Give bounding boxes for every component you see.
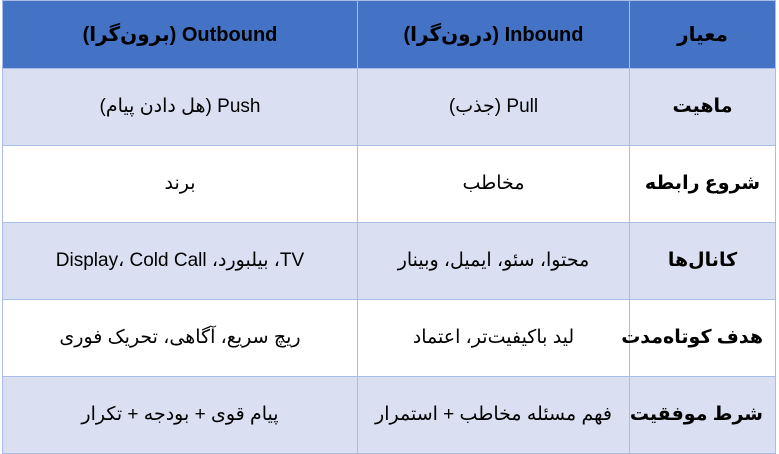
cell-outbound: پیام قوی + بودجه + تکرار	[3, 377, 358, 454]
table-row: شروع رابطه مخاطب برند	[3, 146, 776, 223]
cell-criteria: ماهیت	[630, 69, 776, 146]
table-row: هدف کوتاه‌مدت لید باکیفیت‌تر، اعتماد ریچ…	[3, 300, 776, 377]
cell-inbound: مخاطب	[358, 146, 630, 223]
column-header-criteria: معیار	[630, 1, 776, 69]
table-row: شرط موفقیت فهم مسئله مخاطب + استمرار پیا…	[3, 377, 776, 454]
cell-criteria: شرط موفقیت	[630, 377, 776, 454]
table-body: ماهیت Pull (جذب) Push (هل دادن پیام) شرو…	[3, 69, 776, 454]
cell-inbound: Pull (جذب)	[358, 69, 630, 146]
column-header-inbound: Inbound (درون‌گرا)	[358, 1, 630, 69]
table-header-row: معیار Inbound (درون‌گرا) Outbound (برون‌…	[3, 1, 776, 69]
cell-outbound: ریچ سریع، آگاهی، تحریک فوری	[3, 300, 358, 377]
table-header: معیار Inbound (درون‌گرا) Outbound (برون‌…	[3, 1, 776, 69]
cell-outbound: برند	[3, 146, 358, 223]
column-header-outbound: Outbound (برون‌گرا)	[3, 1, 358, 69]
cell-inbound: فهم مسئله مخاطب + استمرار	[358, 377, 630, 454]
cell-outbound: Push (هل دادن پیام)	[3, 69, 358, 146]
inbound-outbound-comparison-table: معیار Inbound (درون‌گرا) Outbound (برون‌…	[2, 0, 776, 454]
comparison-table-container: معیار Inbound (درون‌گرا) Outbound (برون‌…	[3, 0, 776, 426]
cell-criteria: کانال‌ها	[630, 223, 776, 300]
cell-inbound: لید باکیفیت‌تر، اعتماد	[358, 300, 630, 377]
cell-outbound: TV، بیلبورد، Display، Cold Call	[3, 223, 358, 300]
table-row: کانال‌ها محتوا، سئو، ایمیل، وبینار TV، ب…	[3, 223, 776, 300]
cell-criteria: هدف کوتاه‌مدت	[630, 300, 776, 377]
table-row: ماهیت Pull (جذب) Push (هل دادن پیام)	[3, 69, 776, 146]
cell-inbound: محتوا، سئو، ایمیل، وبینار	[358, 223, 630, 300]
cell-criteria: شروع رابطه	[630, 146, 776, 223]
